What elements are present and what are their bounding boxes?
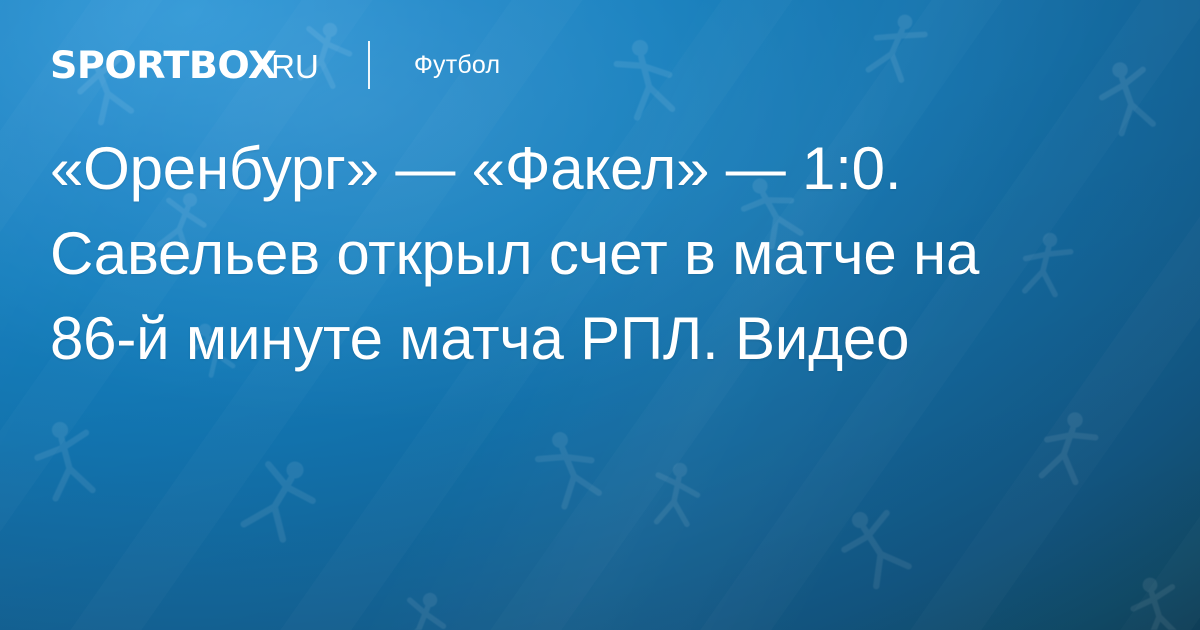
- sportbox-logo[interactable]: SPORTBOXRU: [50, 47, 319, 84]
- logo-tld: RU: [271, 50, 319, 83]
- logo-wordmark: SPORTBOX: [50, 47, 277, 84]
- page-title: «Оренбург» — «Факел» — 1:0. Савельев отк…: [50, 126, 1160, 381]
- share-card: SPORTBOXRU Футбол «Оренбург» — «Факел» —…: [0, 0, 1200, 630]
- category-label[interactable]: Футбол: [414, 51, 500, 80]
- card-header: SPORTBOXRU Футбол: [50, 38, 500, 92]
- header-divider: [368, 41, 370, 89]
